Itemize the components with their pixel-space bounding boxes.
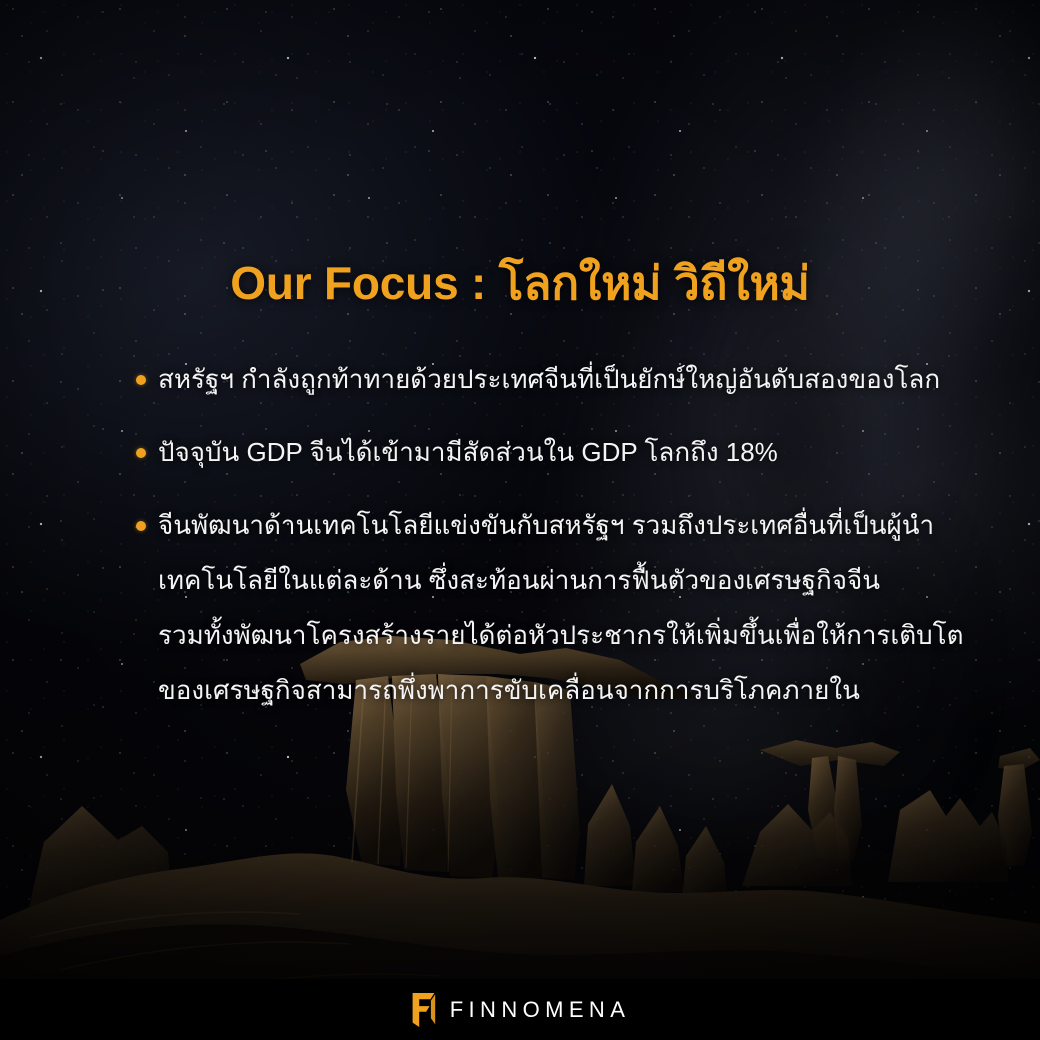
bullet-line: เทคโนโลยีในแต่ละด้าน ซึ่งสะท้อนผ่านการฟื… xyxy=(158,553,932,608)
bullet-dot-icon xyxy=(136,448,146,458)
brand-name: FINNOMENA xyxy=(450,999,631,1021)
bullet-line: ปัจจุบัน GDP จีนได้เข้ามามีสัดส่วนใน GDP… xyxy=(158,425,932,480)
bullet-line: รวมทั้งพัฒนาโครงสร้างรายได้ต่อหัวประชากร… xyxy=(158,608,932,663)
finnomena-logo: FINNOMENA xyxy=(410,993,631,1027)
list-item: จีนพัฒนาด้านเทคโนโลยีแข่งขันกับสหรัฐฯ รว… xyxy=(132,498,932,718)
finnomena-f-mark-icon xyxy=(410,993,437,1027)
bullet-dot-icon xyxy=(136,521,146,531)
list-item: ปัจจุบัน GDP จีนได้เข้ามามีสัดส่วนใน GDP… xyxy=(132,425,932,480)
bullet-list: สหรัฐฯ กำลังถูกท้าทายด้วยประเทศจีนที่เป็… xyxy=(132,352,932,718)
footer-bar: FINNOMENA xyxy=(0,979,1040,1040)
social-card: Our Focus : โลกใหม่ วิถีใหม่ สหรัฐฯ กำลั… xyxy=(0,0,1040,1040)
bullet-line: สหรัฐฯ กำลังถูกท้าทายด้วยประเทศจีนที่เป็… xyxy=(158,352,932,407)
bullet-line: ของเศรษฐกิจสามารถพึ่งพาการขับเคลื่อนจากก… xyxy=(158,663,932,718)
bullet-dot-icon xyxy=(136,375,146,385)
bullet-line: จีนพัฒนาด้านเทคโนโลยีแข่งขันกับสหรัฐฯ รว… xyxy=(158,498,932,553)
list-item: สหรัฐฯ กำลังถูกท้าทายด้วยประเทศจีนที่เป็… xyxy=(132,352,932,407)
page-title: Our Focus : โลกใหม่ วิถีใหม่ xyxy=(0,258,1040,309)
